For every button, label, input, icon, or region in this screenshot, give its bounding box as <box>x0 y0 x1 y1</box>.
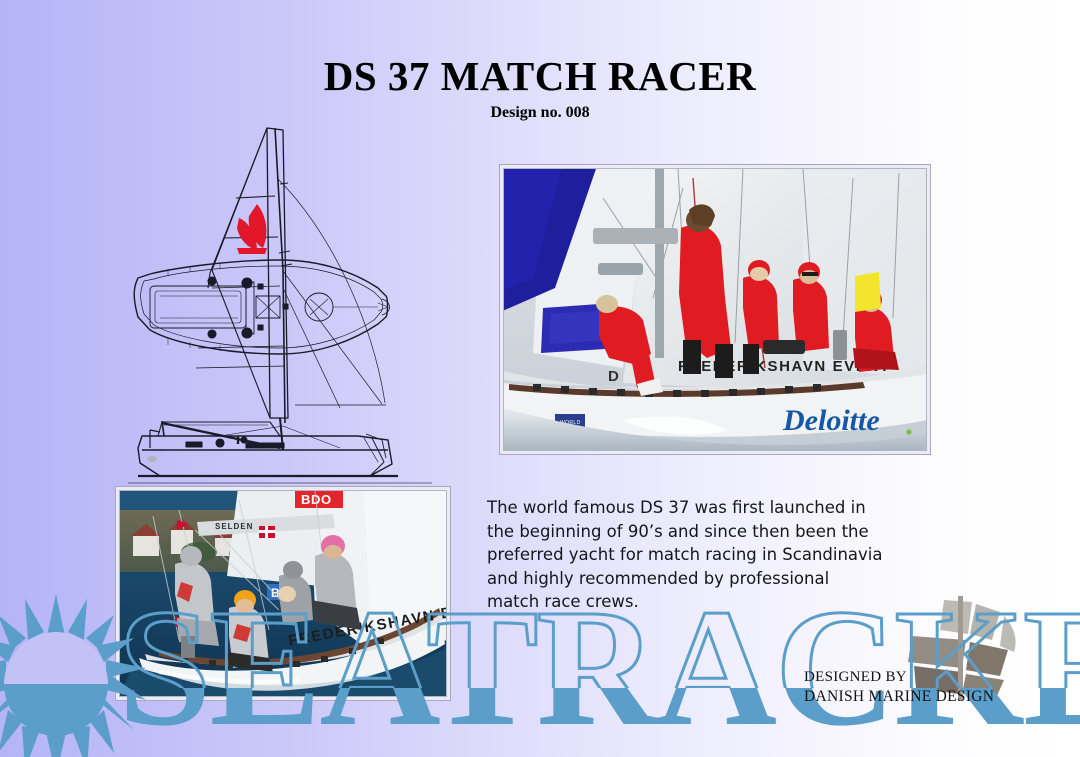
deck-plan-top-view <box>134 260 389 354</box>
photo-match-racing-deloitte: FREDERIKSHAVN EVENT D Deloitte WORLD <box>500 165 930 454</box>
svg-text:Deloitte: Deloitte <box>782 404 880 437</box>
svg-text:SELDEN: SELDEN <box>215 522 253 531</box>
description-line-4: and highly recommended by professional <box>487 567 927 591</box>
class-insignia-icon <box>237 204 267 254</box>
photo-match-racing-bdo: BDO BDO SELDEN <box>116 487 450 700</box>
description-line-2: the beginning of 90’s and since then bee… <box>487 520 927 544</box>
sail-plan-mainsail <box>196 128 288 418</box>
technical-drawing-ds37 <box>120 118 440 488</box>
designer-credit: DESIGNED BY DANISH MARINE DESIGN <box>804 668 994 706</box>
hull-profile-view <box>138 418 398 476</box>
designer-credit-line-2: DANISH MARINE DESIGN <box>804 687 994 706</box>
description-line-5: match race crews. <box>487 590 927 614</box>
description-line-1: The world famous DS 37 was first launche… <box>487 496 927 520</box>
page-title: DS 37 MATCH RACER <box>0 52 1080 100</box>
sail-plan-mast-and-rig <box>275 128 386 423</box>
description-line-3: preferred yacht for match racing in Scan… <box>487 543 927 567</box>
svg-text:D: D <box>608 368 619 385</box>
description-text: The world famous DS 37 was first launche… <box>487 496 927 614</box>
designer-credit-line-1: DESIGNED BY <box>804 668 994 687</box>
